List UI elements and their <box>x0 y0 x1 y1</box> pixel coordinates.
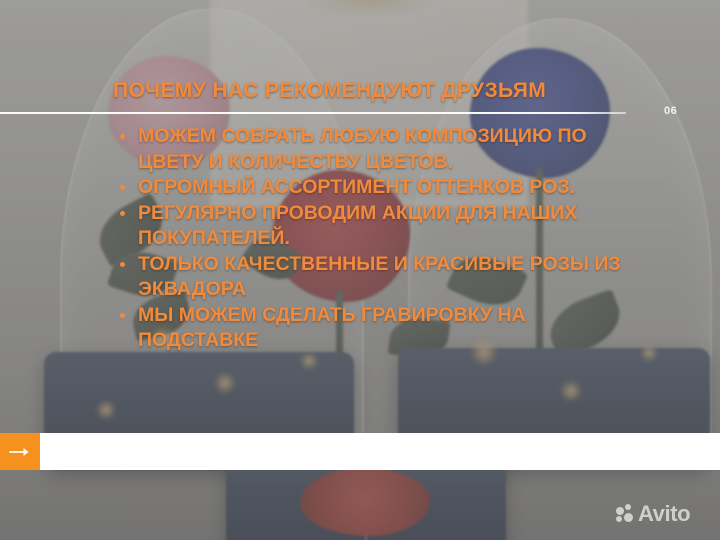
list-item: РЕГУЛЯРНО ПРОВОДИМ АКЦИИ ДЛЯ НАШИХ ПОКУП… <box>113 201 643 252</box>
title-divider <box>0 112 626 114</box>
next-slide-button[interactable] <box>0 433 40 470</box>
page-title: ПОЧЕМУ НАС РЕКОМЕНДУЮТ ДРУЗЬЯМ <box>113 79 546 103</box>
bottom-bar <box>0 433 720 470</box>
list-item: ТОЛЬКО КАЧЕСТВЕННЫЕ И КРАСИВЫЕ РОЗЫ ИЗ Э… <box>113 252 643 303</box>
page-number: 06 <box>664 105 677 117</box>
avito-dots-icon <box>616 504 634 524</box>
avito-watermark: Avito <box>616 503 690 525</box>
benefits-list: МОЖЕМ СОБРАТЬ ЛЮБУЮ КОМПОЗИЦИЮ ПО ЦВЕТУ … <box>113 124 643 354</box>
list-item: ОГРОМНЫЙ АССОРТИМЕНТ ОТТЕНКОВ РОЗ. <box>113 175 643 201</box>
slide-content: ПОЧЕМУ НАС РЕКОМЕНДУЮТ ДРУЗЬЯМ 06 МОЖЕМ … <box>0 0 720 540</box>
list-item: МОЖЕМ СОБРАТЬ ЛЮБУЮ КОМПОЗИЦИЮ ПО ЦВЕТУ … <box>113 124 643 175</box>
list-item: МЫ МОЖЕМ СДЕЛАТЬ ГРАВИРОВКУ НА ПОДСТАВКЕ <box>113 303 643 354</box>
presentation-slide: ПОЧЕМУ НАС РЕКОМЕНДУЮТ ДРУЗЬЯМ 06 МОЖЕМ … <box>0 0 720 540</box>
watermark-label: Avito <box>638 503 690 525</box>
arrow-right-icon <box>9 446 31 458</box>
